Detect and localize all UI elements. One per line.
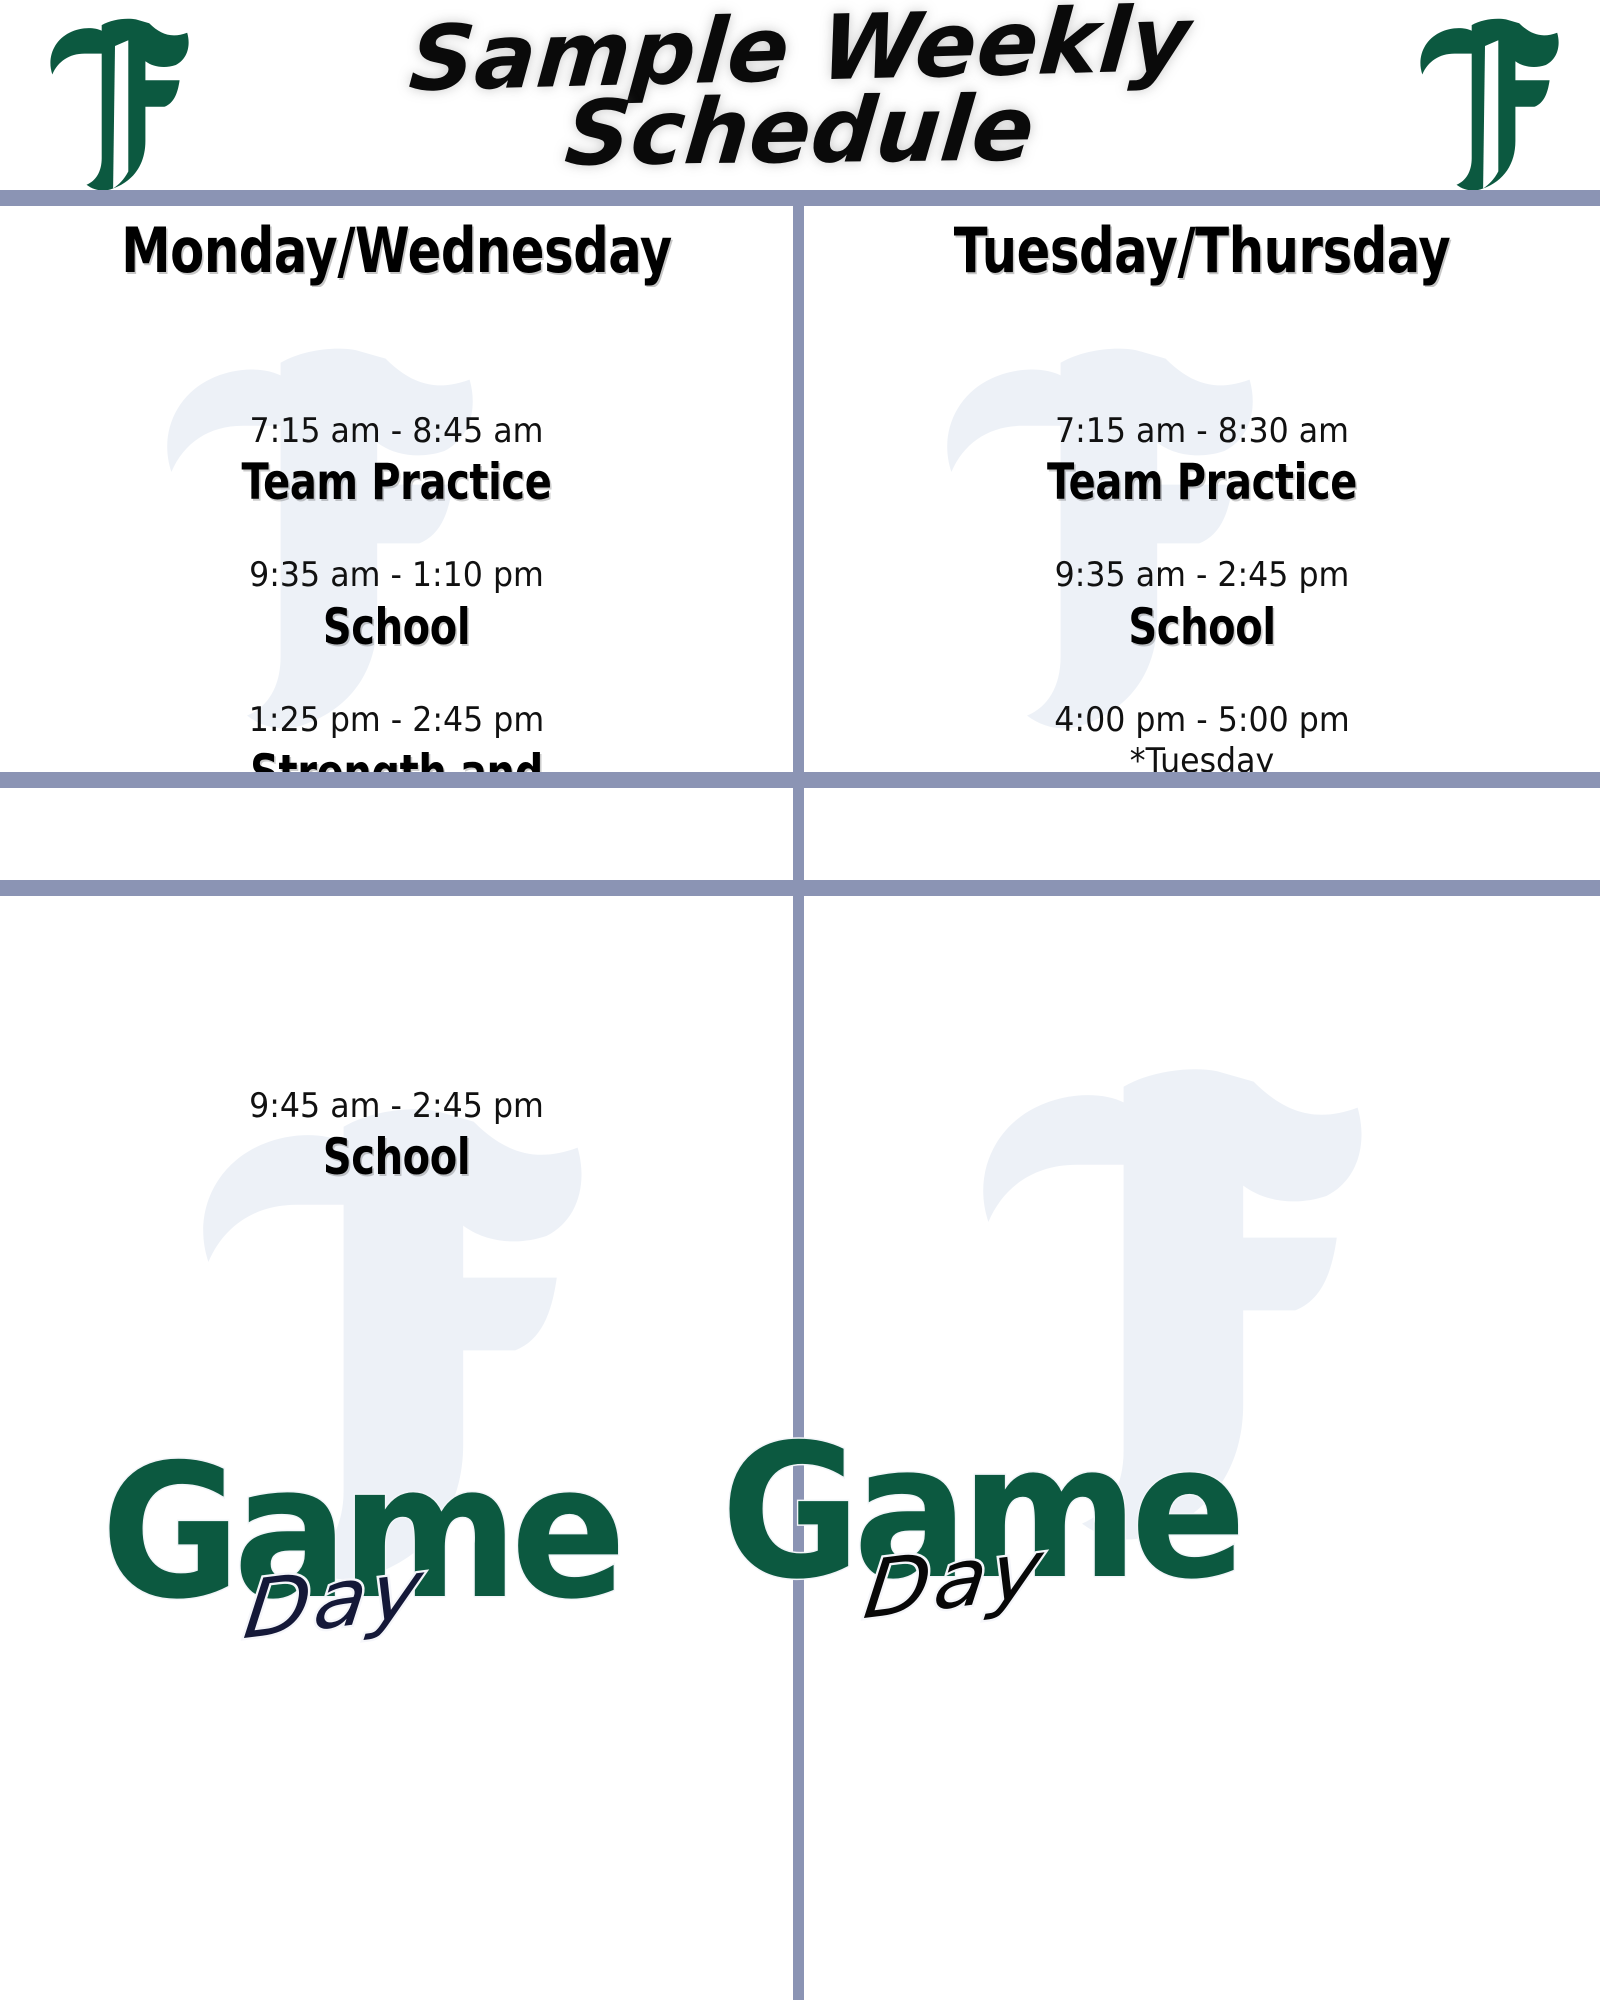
entry-time: 4:00 pm - 5:00 pm: [832, 700, 1572, 741]
schedule-cell-tuesday-thursday: Tuesday/Thursday 7:15 am - 8:30 am Team …: [804, 206, 1600, 772]
entry-list-friday: 9:45 am - 2:45 pm School: [0, 1086, 793, 1186]
title-line-2: Schedule: [395, 84, 1204, 181]
grid-rule-vertical-bottom: [793, 788, 804, 2000]
entry-time: 9:45 am - 2:45 pm: [28, 1086, 765, 1127]
day-header-tuesday-thursday: Tuesday/Thursday: [884, 220, 1521, 282]
entry-activity: School: [79, 1129, 713, 1186]
schedule-entry: 9:45 am - 2:45 pm School: [0, 1086, 793, 1186]
entry-time: 7:15 am - 8:45 am: [28, 411, 765, 452]
entry-activity: Strength and Conditioning: [79, 743, 713, 772]
entry-note: *Tuesday: [832, 741, 1572, 772]
game-day-word-script: Day: [860, 1528, 1050, 1631]
day-header-monday-wednesday: Monday/Wednesday: [79, 220, 713, 282]
entry-list-monday-wednesday: 7:15 am - 8:45 am Team Practice 9:35 am …: [0, 411, 793, 772]
entry-activity: Team Practice: [79, 454, 713, 511]
schedule-entry: 7:15 am - 8:30 am Team Practice: [804, 411, 1600, 511]
entry-activity: School: [79, 599, 713, 656]
grid-rule-horizontal-top: [0, 190, 1600, 206]
entry-list-tuesday-thursday: 7:15 am - 8:30 am Team Practice 9:35 am …: [804, 411, 1600, 772]
schedule-cell-monday-wednesday: Monday/Wednesday 7:15 am - 8:45 am Team …: [0, 206, 793, 772]
game-day-word-script: Day: [240, 1548, 430, 1651]
schedule-entry: 9:35 am - 1:10 pm School: [0, 555, 793, 655]
page-title: Sample Weekly Schedule: [400, 6, 1200, 176]
blackletter-f-logo-left: [20, 8, 210, 198]
schedule-entry: 9:35 am - 2:45 pm School: [804, 555, 1600, 655]
game-day-graphic-weekend: Game Day: [715, 1420, 1275, 1670]
schedule-entry: 7:15 am - 8:45 am Team Practice: [0, 411, 793, 511]
schedule-entry: 1:25 pm - 2:45 pm Strength and Condition…: [0, 700, 793, 772]
entry-activity: School: [884, 599, 1521, 656]
grid-rule-horizontal-middle: [0, 772, 1600, 788]
entry-time: 1:25 pm - 2:45 pm: [28, 700, 765, 741]
entry-activity: Team Practice: [884, 454, 1521, 511]
entry-time: 9:35 am - 1:10 pm: [28, 555, 765, 596]
schedule-entry: 4:00 pm - 5:00 pm *Tuesday Skills Practi…: [804, 700, 1600, 772]
entry-time: 9:35 am - 2:45 pm: [832, 555, 1572, 596]
grid-rule-vertical-top: [793, 206, 804, 772]
game-day-graphic-friday: Game Day: [95, 1440, 655, 1690]
blackletter-f-logo-right: [1390, 8, 1580, 198]
entry-time: 7:15 am - 8:30 am: [832, 411, 1572, 452]
